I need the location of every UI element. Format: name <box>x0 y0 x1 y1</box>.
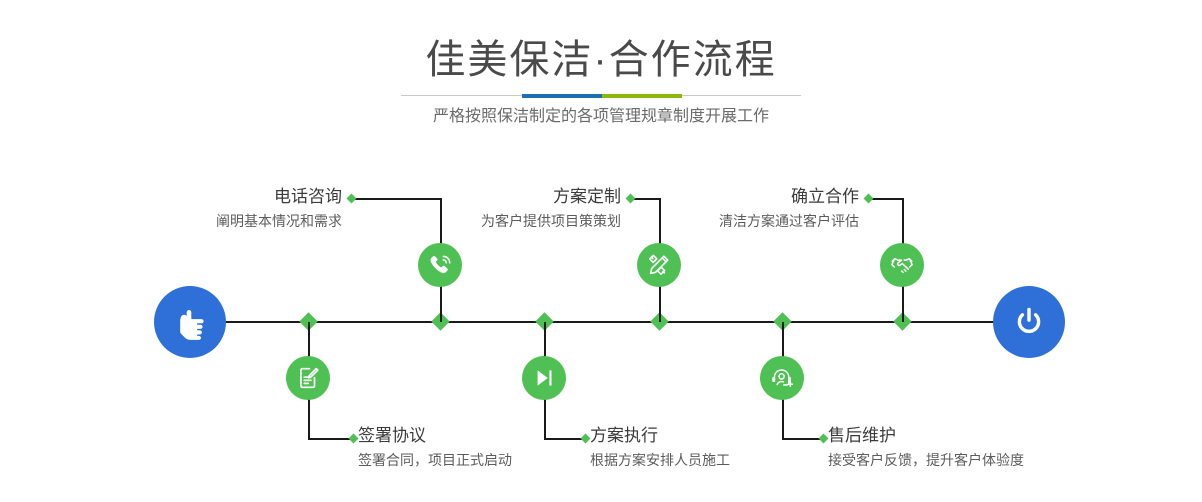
step-label-2: 签署协议 签署合同，项目正式启动 <box>358 425 618 471</box>
page-header: 佳美保洁·合作流程 严格按照保洁制定的各项管理规章制度开展工作 <box>0 0 1202 150</box>
step-icon-3 <box>637 243 681 287</box>
step-label-1: 电话咨询 阐明基本情况和需求 <box>100 186 342 232</box>
step-icon-2 <box>286 356 330 400</box>
step-title-6: 售后维护 <box>828 425 1118 447</box>
step-desc-4: 根据方案安排人员施工 <box>590 449 840 471</box>
step-label-4: 方案执行 根据方案安排人员施工 <box>590 425 840 471</box>
step-title-2: 签署协议 <box>358 425 618 447</box>
pointing-hand-icon <box>171 303 209 341</box>
step-label-5: 确立合作 清洁方案通过客户评估 <box>620 186 859 232</box>
label-dot-5 <box>864 194 874 204</box>
play-skip-icon <box>531 365 557 391</box>
connector-horizontal-5 <box>869 198 904 200</box>
step-icon-1 <box>418 243 462 287</box>
page-subtitle: 严格按照保洁制定的各项管理规章制度开展工作 <box>0 105 1202 129</box>
handshake-icon <box>889 252 915 278</box>
phone-call-icon <box>427 252 453 278</box>
label-dot-1 <box>347 194 357 204</box>
step-icon-4 <box>522 356 566 400</box>
step-desc-5: 清洁方案通过客户评估 <box>620 210 859 232</box>
pencil-ruler-icon <box>646 252 672 278</box>
step-desc-1: 阐明基本情况和需求 <box>100 210 342 232</box>
title-divider <box>401 94 801 98</box>
step-title-5: 确立合作 <box>620 186 859 208</box>
step-desc-2: 签署合同，项目正式启动 <box>358 449 618 471</box>
step-label-3: 方案定制 为客户提供项目策策划 <box>381 186 621 232</box>
label-dot-2 <box>349 434 359 444</box>
timeline-end-endpoint <box>993 286 1065 358</box>
power-button-icon <box>1010 303 1048 341</box>
step-title-4: 方案执行 <box>590 425 840 447</box>
step-icon-6 <box>760 356 804 400</box>
page-title: 佳美保洁·合作流程 <box>0 36 1202 84</box>
step-title-1: 电话咨询 <box>100 186 342 208</box>
connector-horizontal-2 <box>308 438 354 440</box>
step-icon-5 <box>880 243 924 287</box>
step-label-6: 售后维护 接受客户反馈，提升客户体验度 <box>828 425 1118 471</box>
process-timeline: 电话咨询 阐明基本情况和需求 签署协议 签署合同，项目正式启动 <box>0 150 1202 502</box>
timeline-start-endpoint <box>154 286 226 358</box>
step-desc-3: 为客户提供项目策策划 <box>381 210 621 232</box>
divider-segment-blue <box>522 94 602 98</box>
step-title-3: 方案定制 <box>381 186 621 208</box>
step-desc-6: 接受客户反馈，提升客户体验度 <box>828 449 1118 471</box>
divider-segment-green <box>602 94 682 98</box>
document-edit-icon <box>295 365 321 391</box>
customer-service-add-icon <box>769 365 795 391</box>
